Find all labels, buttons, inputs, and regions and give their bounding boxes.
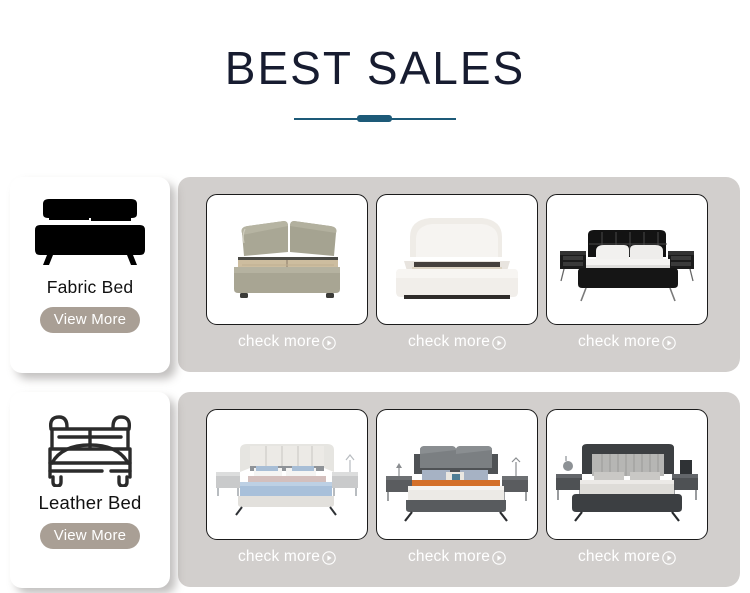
black-tufted-bed-with-nightstands-image[interactable] [546,194,708,325]
check-more-link[interactable]: check more [408,333,506,351]
play-arrow-icon [662,336,676,350]
check-more-link[interactable]: check more [578,548,676,566]
category-row-fabric-bed: Fabric Bed View More [0,177,750,373]
charcoal-channel-tufted-bed-image[interactable] [546,409,708,540]
category-label: Fabric Bed [47,277,134,298]
check-more-label: check more [238,548,320,566]
check-more-link[interactable]: check more [578,333,676,351]
play-arrow-icon [322,551,336,565]
view-more-button[interactable]: View More [40,523,140,549]
product-tiles: check more [178,392,740,587]
fabric-bed-icon [34,193,146,271]
divider-knob [357,115,392,122]
check-more-label: check more [408,548,490,566]
category-label: Leather Bed [38,492,141,514]
product-tiles: check more [178,177,740,372]
product-tile[interactable]: check more [376,409,538,566]
play-arrow-icon [492,551,506,565]
check-more-label: check more [238,333,320,351]
check-more-link[interactable]: check more [238,548,336,566]
light-gray-wing-bed-blue-bedding-image[interactable] [206,409,368,540]
view-more-button[interactable]: View More [40,307,140,333]
product-tile[interactable]: check more [206,409,368,566]
check-more-label: check more [408,333,490,351]
play-arrow-icon [492,336,506,350]
check-more-link[interactable]: check more [238,333,336,351]
play-arrow-icon [662,551,676,565]
check-more-label: check more [578,333,660,351]
product-tile[interactable]: check more [206,194,368,351]
category-card-leather-bed[interactable]: Leather Bed View More [10,392,170,588]
sage-fabric-platform-bed-image[interactable] [206,194,368,325]
check-more-link[interactable]: check more [408,548,506,566]
leather-bed-icon [34,408,146,486]
page-title: BEST SALES [0,44,750,92]
title-divider [294,114,456,124]
page-header: BEST SALES [0,0,750,124]
product-tile[interactable]: check more [376,194,538,351]
dark-gray-bed-orange-throw-image[interactable] [376,409,538,540]
check-more-label: check more [578,548,660,566]
category-row-leather-bed: Leather Bed View More [0,392,750,588]
product-tile[interactable]: check more [546,194,708,351]
category-card-fabric-bed[interactable]: Fabric Bed View More [10,177,170,373]
cream-arch-headboard-bed-image[interactable] [376,194,538,325]
product-tile[interactable]: check more [546,409,708,566]
play-arrow-icon [322,336,336,350]
